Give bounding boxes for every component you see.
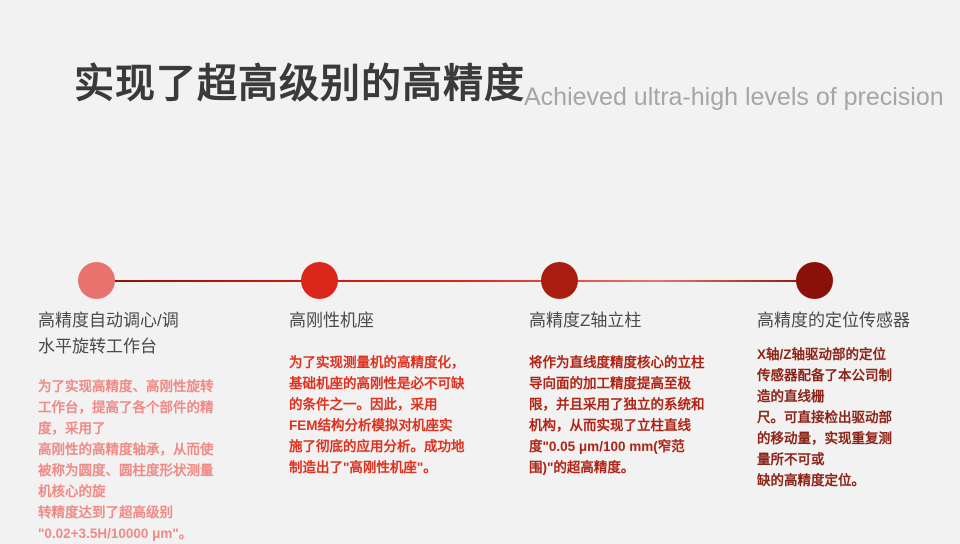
page-title: 实现了超高级别的高精度 — [74, 58, 525, 110]
column-4-body: X轴/Z轴驱动部的定位 传感器配备了本公司制 造的直线栅 尺。可直接检出驱动部 … — [757, 344, 960, 491]
column-1-heading: 高精度自动调心/调 水平旋转工作台 — [38, 308, 268, 360]
column-2-body: 为了实现测量机的高精度化， 基础机座的高刚性是必不可缺 的条件之一。因此，采用 … — [289, 352, 519, 478]
column-2-heading: 高刚性机座 — [289, 308, 519, 334]
timeline-column-2: 高刚性机座 为了实现测量机的高精度化， 基础机座的高刚性是必不可缺 的条件之一。… — [289, 308, 519, 478]
timeline-column-1: 高精度自动调心/调 水平旋转工作台 为了实现高精度、高刚性旋转 工作台，提高了各… — [38, 308, 268, 544]
page-subtitle: Achieved ultra-high levels of precision — [524, 80, 944, 114]
timeline-column-3: 高精度Z轴立柱 将作为直线度精度核心的立柱 导向面的加工精度提高至极 限，并且采… — [529, 308, 759, 478]
column-4-heading: 高精度的定位传感器 — [757, 308, 960, 334]
slide-root: 实现了超高级别的高精度 Achieved ultra-high levels o… — [0, 0, 960, 540]
column-3-body: 将作为直线度精度核心的立柱 导向面的加工精度提高至极 限，并且采用了独立的系统和… — [529, 352, 759, 478]
slide-header: 实现了超高级别的高精度 Achieved ultra-high levels o… — [0, 58, 960, 120]
milestone-dot-3[interactable] — [541, 262, 578, 299]
milestone-dot-2[interactable] — [301, 262, 338, 299]
timeline-connector-line — [97, 280, 815, 282]
column-1-body: 为了实现高精度、高刚性旋转 工作台，提高了各个部件的精 度，采用了 高刚性的高精… — [38, 376, 268, 544]
timeline-column-4: 高精度的定位传感器 X轴/Z轴驱动部的定位 传感器配备了本公司制 造的直线栅 尺… — [757, 308, 960, 491]
milestone-dot-1[interactable] — [78, 262, 115, 299]
milestone-dot-4[interactable] — [796, 262, 833, 299]
timeline — [0, 255, 960, 305]
column-3-heading: 高精度Z轴立柱 — [529, 308, 759, 334]
